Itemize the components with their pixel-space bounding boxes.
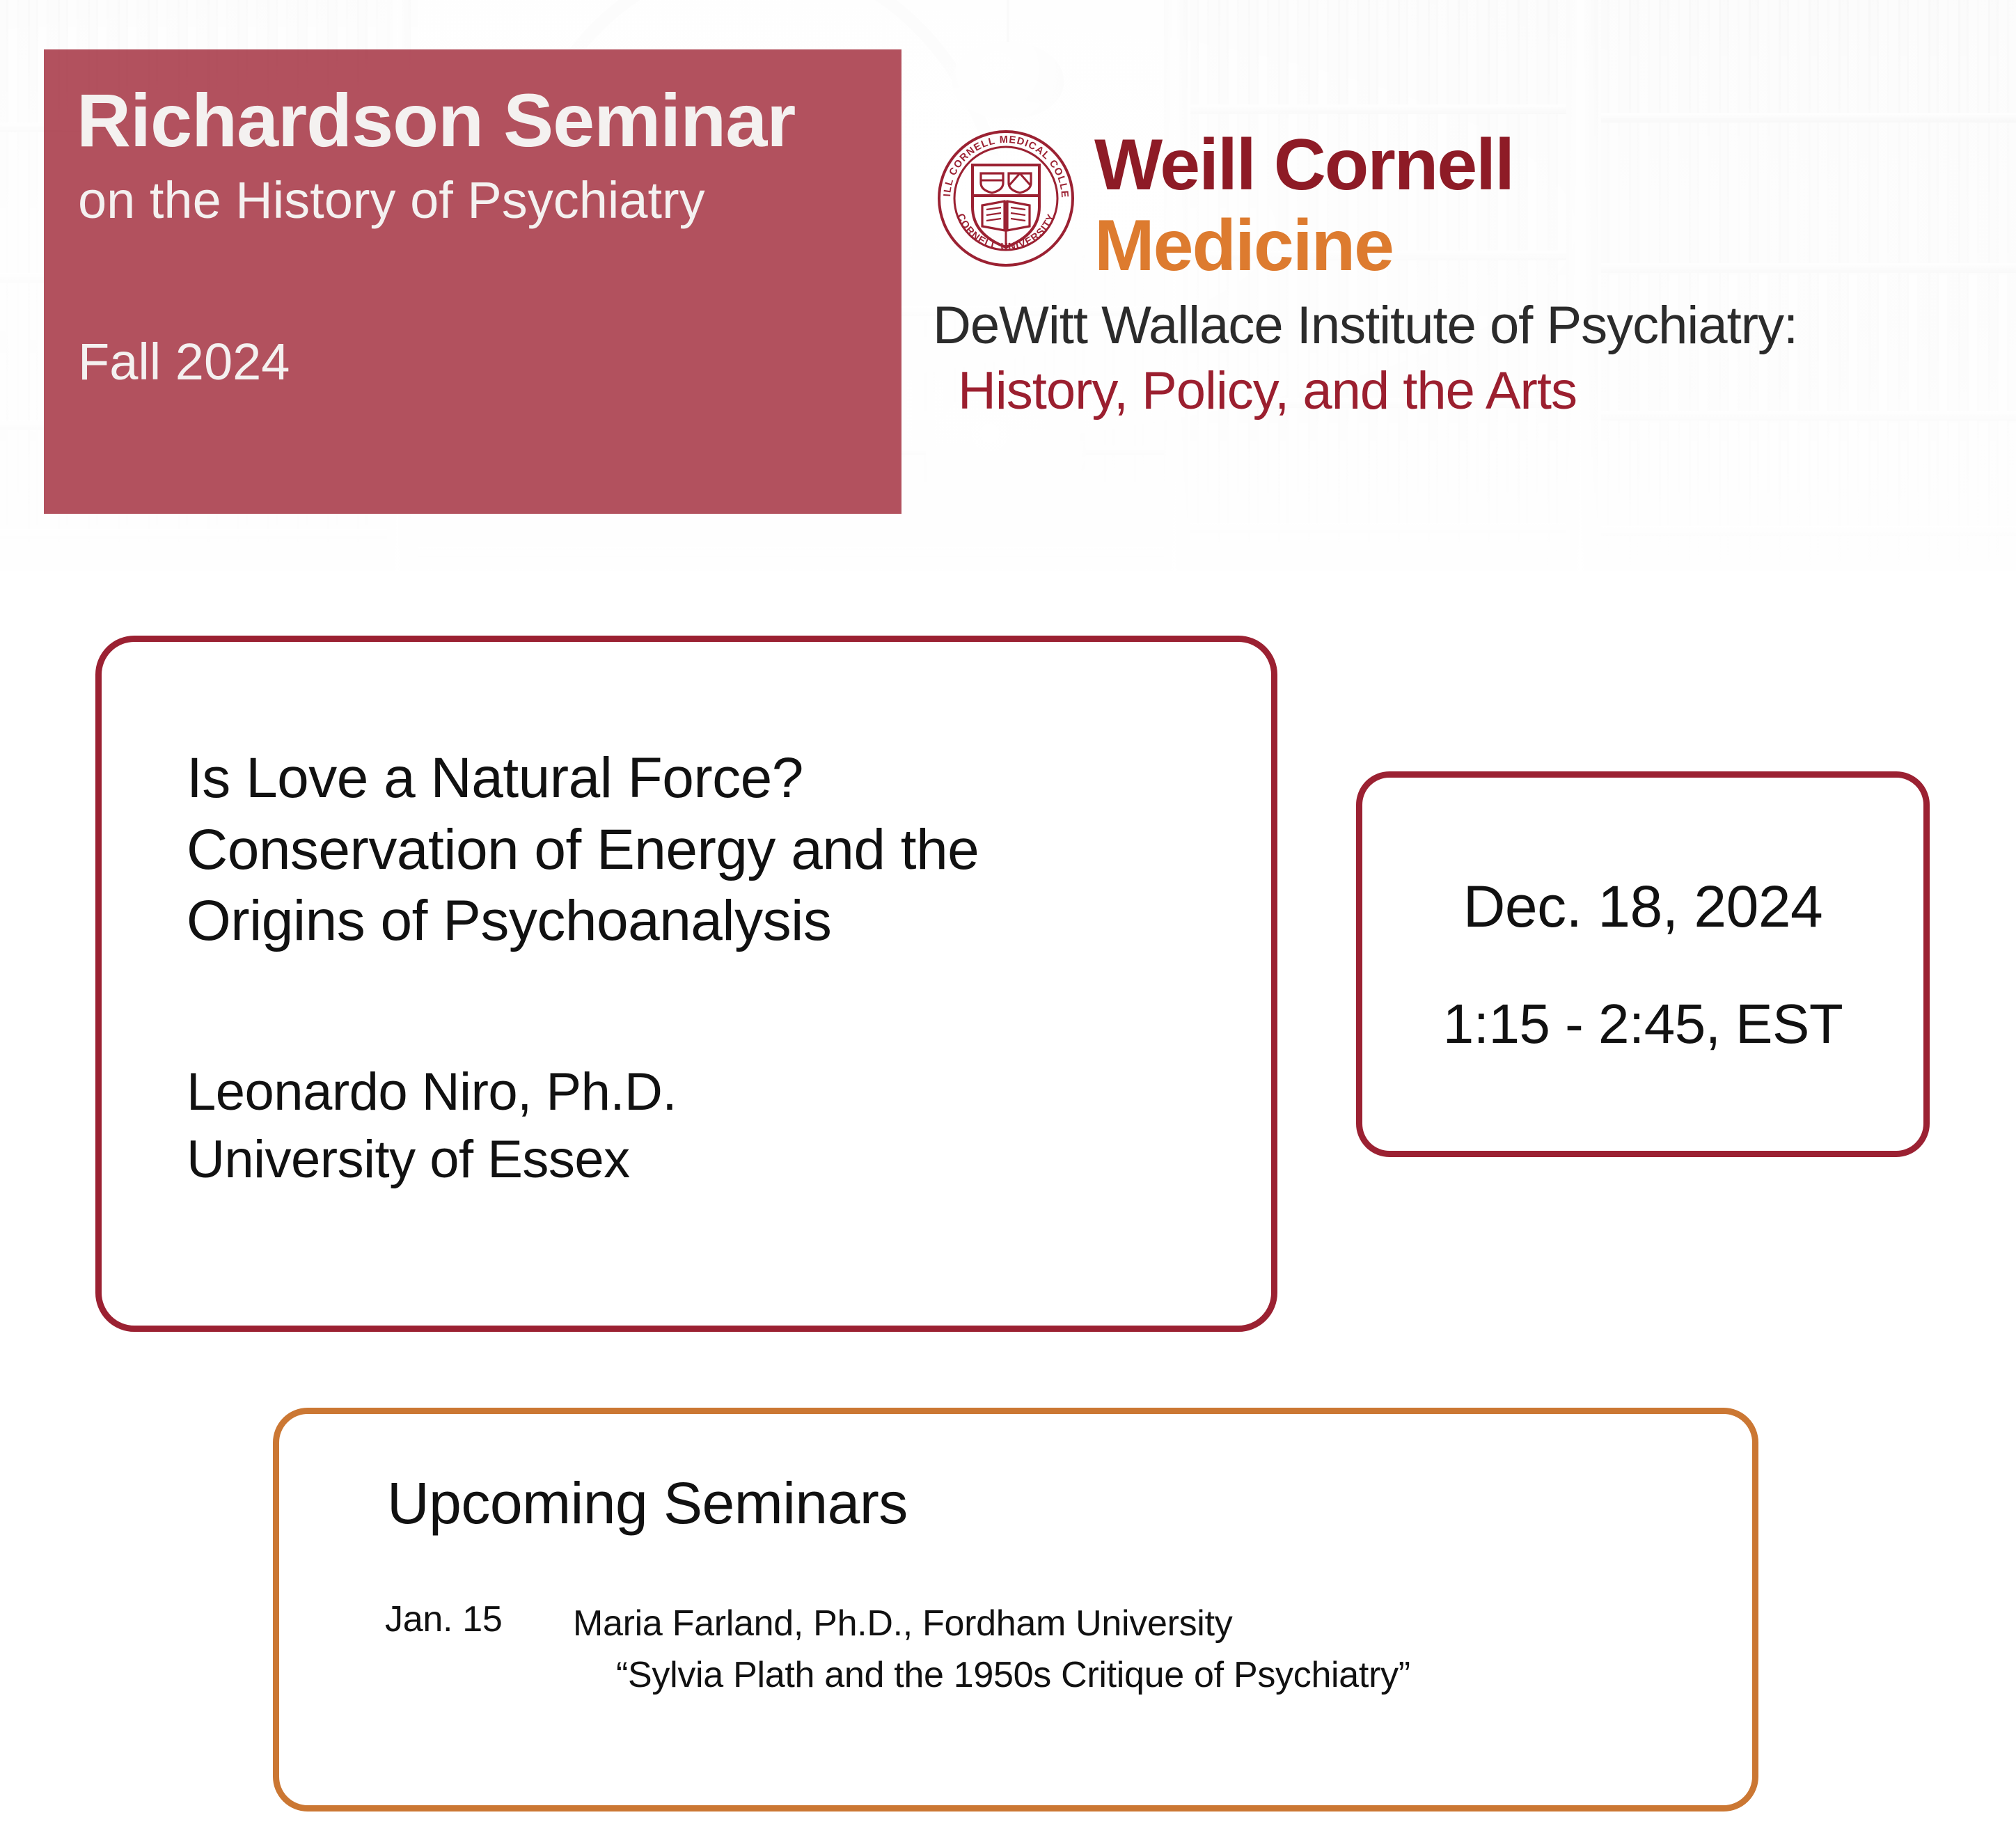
upcoming-seminars-heading: Upcoming Seminars bbox=[387, 1470, 908, 1537]
talk-card: Is Love a Natural Force? Conservation of… bbox=[95, 636, 1277, 1332]
upcoming-seminars-card: Upcoming Seminars Jan. 15 Maria Farland,… bbox=[273, 1408, 1758, 1811]
medicine-wordmark: Medicine bbox=[1094, 205, 1393, 288]
institute-name: DeWitt Wallace Institute of Psychiatry: bbox=[933, 295, 1797, 356]
cornell-seal-icon: WEILL CORNELL MEDICAL COLLEGE CORNELL UN… bbox=[936, 129, 1076, 268]
header-banner: Richardson Seminar on the History of Psy… bbox=[0, 0, 2016, 571]
event-date: Dec. 18, 2024 bbox=[1463, 873, 1823, 941]
upcoming-seminar-title: “Sylvia Plath and the 1950s Critique of … bbox=[616, 1650, 1410, 1701]
event-time: 1:15 - 2:45, EST bbox=[1443, 992, 1843, 1056]
event-datetime-card: Dec. 18, 2024 1:15 - 2:45, EST bbox=[1356, 771, 1930, 1157]
talk-title: Is Love a Natural Force? Conservation of… bbox=[187, 743, 979, 957]
institute-tagline: History, Policy, and the Arts bbox=[958, 361, 1577, 421]
list-item: Jan. 15 Maria Farland, Ph.D., Fordham Un… bbox=[385, 1598, 1410, 1701]
page-title: Richardson Seminar bbox=[77, 77, 795, 164]
upcoming-seminar-detail: Maria Farland, Ph.D., Fordham University… bbox=[573, 1598, 1410, 1701]
talk-speaker: Leonardo Niro, Ph.D. University of Essex bbox=[187, 1058, 677, 1194]
seminar-term: Fall 2024 bbox=[78, 332, 290, 391]
upcoming-seminar-speaker: Maria Farland, Ph.D., Fordham University bbox=[573, 1603, 1232, 1644]
weill-cornell-wordmark: Weill Cornell bbox=[1094, 124, 1513, 207]
seminar-subtitle: on the History of Psychiatry bbox=[78, 171, 705, 230]
upcoming-seminar-date: Jan. 15 bbox=[385, 1598, 573, 1640]
